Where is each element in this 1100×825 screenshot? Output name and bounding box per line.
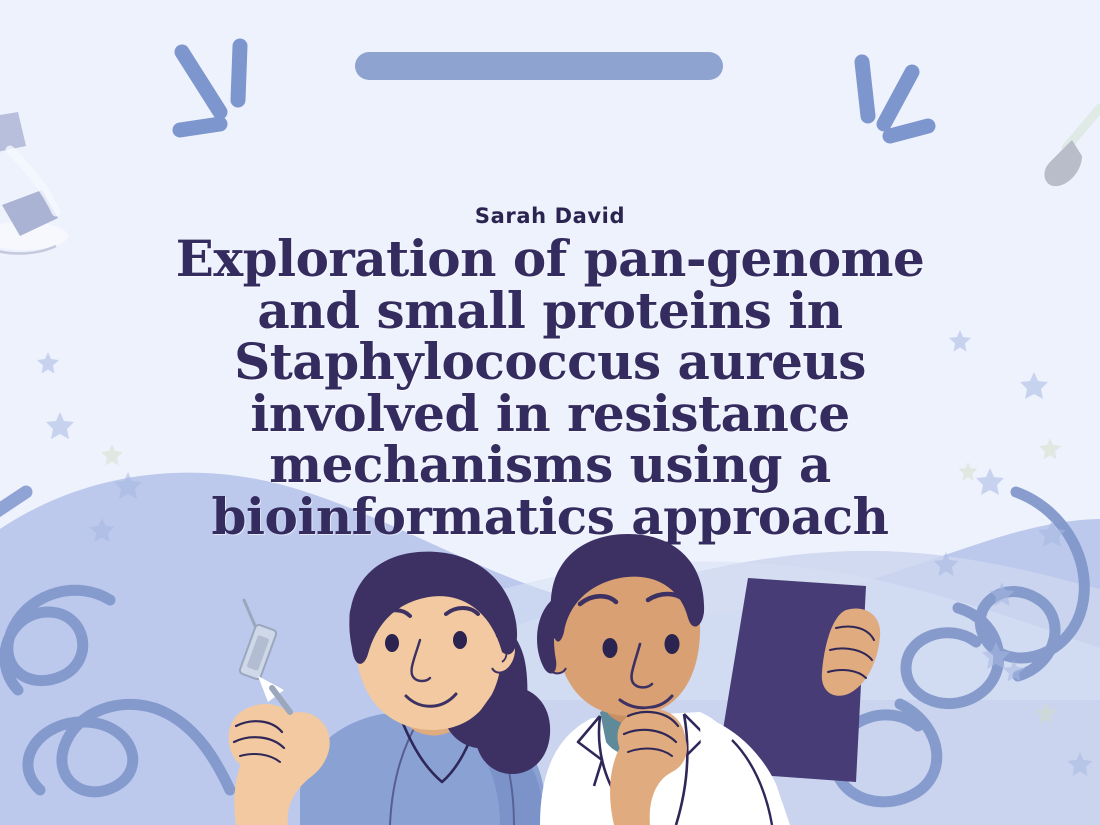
syringe-icon xyxy=(239,600,290,712)
nurse-with-syringe xyxy=(229,552,551,825)
doctor-examining-xray xyxy=(537,534,880,825)
title-slide: Sarah David Exploration of pan-genome an… xyxy=(0,0,1100,825)
illustrations xyxy=(0,0,1100,825)
